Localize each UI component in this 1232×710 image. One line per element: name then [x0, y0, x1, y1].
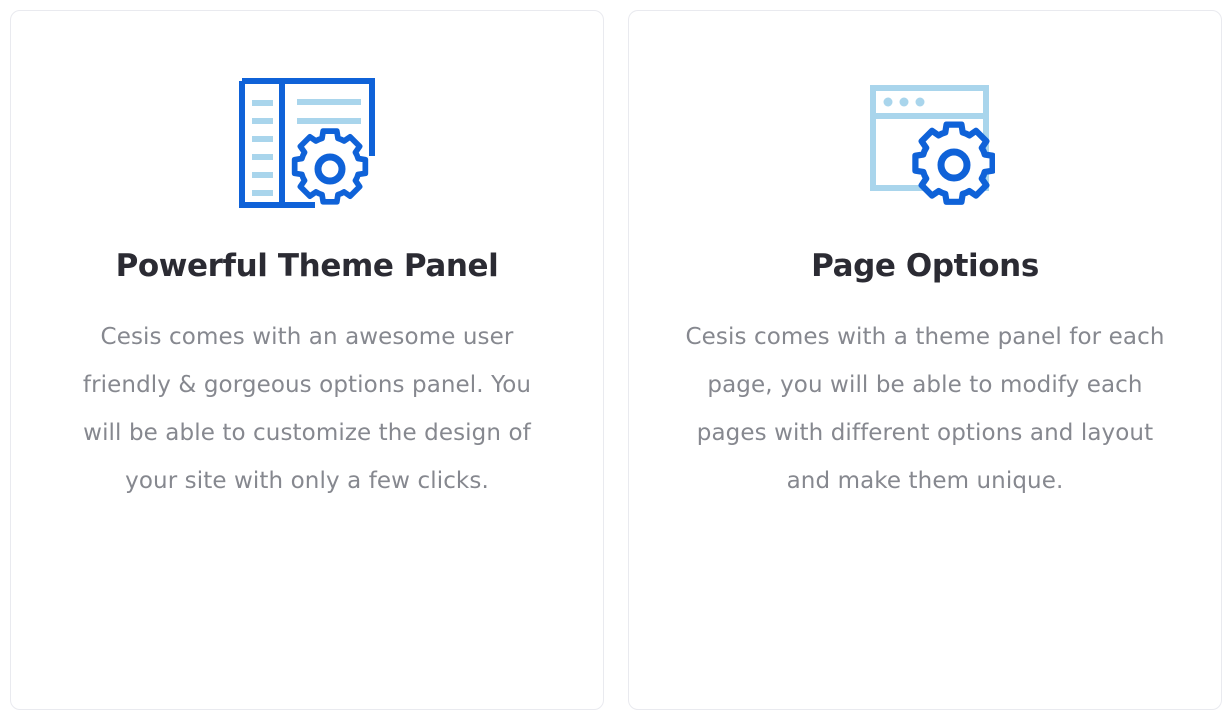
card-title: Powerful Theme Panel [116, 249, 499, 285]
card-description: Cesis comes with an awesome user friendl… [72, 313, 542, 505]
page-options-icon [845, 68, 1005, 218]
card-title: Page Options [811, 249, 1039, 285]
feature-card-theme-panel[interactable]: Powerful Theme Panel Cesis comes with an… [10, 10, 604, 710]
feature-cards-row: Powerful Theme Panel Cesis comes with an… [0, 0, 1232, 616]
theme-panel-icon [227, 68, 387, 218]
feature-card-page-options[interactable]: Page Options Cesis comes with a theme pa… [628, 10, 1222, 710]
card-description: Cesis comes with a theme panel for each … [685, 313, 1165, 505]
